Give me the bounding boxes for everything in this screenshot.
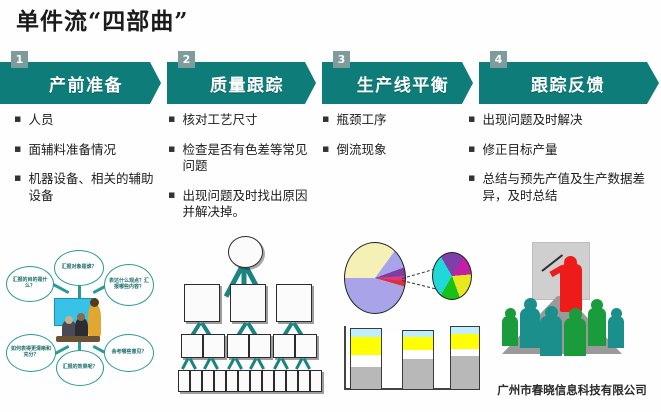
bar-segment (451, 334, 479, 350)
audience-member (608, 316, 624, 348)
bullet-marker-icon: ▪ (168, 142, 175, 175)
mindmap-bubble: 汇报对象是谁？ (54, 250, 104, 286)
banner-step-3-number: 3 (333, 51, 350, 68)
tree-node-l3 (214, 370, 226, 392)
tree-node-l2 (273, 334, 295, 358)
tree-node-l3 (190, 370, 202, 392)
audience-member (588, 308, 606, 346)
list-item: ▪ 检查是否有色差等常见问题 (168, 142, 313, 175)
mindmap-bubble-text: 会考哪些意见？ (105, 335, 153, 371)
bar-segment (451, 356, 479, 389)
bullet-column-1: ▪ 人员 ▪ 面辅料准备情况 ▪ 机器设备、相关的辅助设备 (14, 112, 154, 217)
bullet-column-4: ▪ 出现问题及时解决 ▪ 修正目标产量 ▪ 总结与预先产值及生产数据差异，及时总… (468, 112, 648, 217)
pie-chart-group (336, 234, 476, 320)
mindmap-presenter-body (88, 304, 101, 338)
list-item: ▪ 机器设备、相关的辅助设备 (14, 171, 154, 204)
bar-segment (351, 337, 381, 356)
tree-node-l3 (226, 370, 238, 392)
bullet-column-2: ▪ 核对工艺尺寸 ▪ 检查是否有色差等常见问题 ▪ 出现问题及时找出原因并解决掉… (168, 112, 313, 234)
banner-step-3[interactable]: 生产线平衡 (322, 62, 474, 104)
banner-step-1-number: 1 (11, 51, 28, 68)
audience-head (505, 308, 516, 319)
audience-head (524, 298, 537, 311)
bullet-marker-icon: ▪ (168, 112, 175, 129)
list-item-text: 检查是否有色差等常见问题 (182, 142, 313, 175)
tree-diagram (166, 236, 324, 408)
bullet-marker-icon: ▪ (168, 188, 175, 221)
list-item: ▪ 人员 (14, 112, 154, 129)
tree-node-l3 (238, 370, 250, 392)
tree-link (235, 358, 243, 370)
audience-member (520, 308, 540, 348)
bullet-marker-icon: ▪ (322, 142, 329, 159)
audience-member (502, 316, 518, 346)
bar-segment (351, 367, 381, 389)
presenter-head (564, 256, 577, 269)
mindmap-bubble: 汇报的效果呢？ (56, 350, 104, 386)
tree-node-l2 (249, 334, 271, 358)
mindmap-illustration: 汇报对象是谁？ 汇报的目的是什么？ 表达什么观点？汇报哪些内容？ 如何表得更清晰… (4, 238, 156, 406)
list-item-text: 瓶颈工序 (336, 112, 386, 129)
pie-callout-line (402, 269, 435, 279)
bar-column (450, 326, 480, 390)
audience-member (540, 316, 562, 356)
tree-node-l2 (181, 334, 203, 358)
tree-node-l1 (184, 284, 220, 322)
list-item: ▪ 总结与预先产值及生产数据差异，及时总结 (468, 171, 648, 204)
mindmap-audience-1-head (65, 316, 73, 324)
tree-node-l3 (202, 370, 214, 392)
list-item: ▪ 倒流现象 (322, 142, 462, 159)
pie-callout-line (402, 280, 435, 289)
stacked-bar-chart (336, 320, 478, 408)
page-title: 单件流“四部曲” (16, 2, 188, 36)
pie-chart-main (344, 242, 406, 314)
mindmap-table (56, 336, 100, 342)
bar-chart-y-axis (344, 326, 346, 388)
list-item-text: 面辅料准备情况 (28, 142, 116, 159)
mindmap-bubble: 如何表得更清晰和充分？ (6, 334, 56, 372)
mindmap-bubble: 表达什么观点？汇报哪些内容？ (104, 264, 154, 306)
list-item-text: 出现问题及时找出原因并解决掉。 (182, 188, 313, 221)
banner-tail-arrow (647, 62, 659, 104)
list-item-text: 出现问题及时解决 (482, 112, 582, 129)
bar-segment (403, 359, 433, 389)
mindmap-bubble-text: 如何表得更清晰和充分？ (7, 335, 55, 371)
tree-node-l3 (286, 370, 298, 392)
list-item-text: 倒流现象 (336, 142, 386, 159)
bullet-marker-icon: ▪ (468, 112, 475, 129)
tree-node-l2 (203, 334, 225, 358)
audience-head (545, 306, 558, 319)
list-item: ▪ 核对工艺尺寸 (168, 112, 313, 129)
tree-node-l3 (274, 370, 286, 392)
bullet-marker-icon: ▪ (14, 142, 21, 159)
bullet-column-3: ▪ 瓶颈工序 ▪ 倒流现象 (322, 112, 462, 171)
process-banner: 产前准备 1 质量跟踪 2 生产线平衡 3 跟踪反馈 4 (0, 62, 661, 104)
banner-step-4[interactable]: 跟踪反馈 (479, 62, 647, 104)
bullet-columns: ▪ 人员 ▪ 面辅料准备情况 ▪ 机器设备、相关的辅助设备 ▪ 核对工艺尺寸 ▪… (0, 112, 661, 237)
banner-step-4-number: 4 (490, 51, 507, 68)
mindmap-bubble: 汇报的目的是什么？ (6, 266, 54, 302)
slide-root: 单件流“四部曲” 产前准备 1 质量跟踪 2 生产线平衡 3 跟踪反馈 4 (0, 0, 661, 412)
tree-link (303, 358, 311, 370)
presenter-illustration: 广州市春晓信息科技有限公司 (484, 234, 656, 412)
list-item-text: 修正目标产量 (482, 142, 557, 159)
banner-step-1-label: 产前准备 (0, 71, 162, 96)
list-item-text: 总结与预先产值及生产数据差异，及时总结 (482, 171, 648, 204)
list-item: ▪ 修正目标产量 (468, 142, 648, 159)
bullet-marker-icon: ▪ (468, 171, 475, 204)
tree-node-l2 (227, 334, 249, 358)
mindmap-bubble-text: 汇报的效果呢？ (57, 351, 103, 385)
list-item: ▪ 出现问题及时解决 (468, 112, 648, 129)
bar-column (402, 330, 434, 390)
presenter-body (560, 264, 582, 312)
tree-link (257, 358, 265, 370)
list-item-text: 核对工艺尺寸 (182, 112, 257, 129)
bullet-marker-icon: ▪ (322, 112, 329, 129)
banner-step-4-label: 跟踪反馈 (479, 71, 647, 96)
tree-link (281, 358, 289, 370)
banner-step-2[interactable]: 质量跟踪 (167, 62, 317, 104)
tree-node-l3 (250, 370, 262, 392)
tree-node-l3 (298, 370, 310, 392)
list-item: ▪ 出现问题及时找出原因并解决掉。 (168, 188, 313, 221)
list-item-text: 人员 (28, 112, 53, 129)
bullet-marker-icon: ▪ (14, 171, 21, 204)
list-item: ▪ 瓶颈工序 (322, 112, 462, 129)
tree-link (211, 358, 219, 370)
mindmap-bubble-text: 表达什么观点？汇报哪些内容？ (105, 265, 153, 305)
footer-company: 广州市春晓信息科技有限公司 (488, 382, 656, 398)
tree-node-l3 (310, 370, 322, 392)
audience-head (611, 308, 622, 319)
banner-step-2-number: 2 (178, 51, 195, 68)
list-item: ▪ 面辅料准备情况 (14, 142, 154, 159)
tree-node-l1 (230, 284, 266, 322)
bar-column (350, 328, 382, 390)
banner-step-1[interactable]: 产前准备 (0, 62, 162, 104)
tree-node-l3 (178, 370, 190, 392)
pie-chart-detail (432, 252, 472, 300)
mindmap-bubble-text: 汇报对象是谁？ (55, 251, 103, 285)
mindmap-bubble-text: 汇报的目的是什么？ (7, 267, 53, 301)
tree-node-l3 (262, 370, 274, 392)
graphics-row: 汇报对象是谁？ 汇报的目的是什么？ 表达什么观点？汇报哪些内容？ 如何表得更清晰… (0, 234, 661, 412)
audience-member (564, 318, 586, 356)
bullet-marker-icon: ▪ (468, 142, 475, 159)
bullet-marker-icon: ▪ (14, 112, 21, 129)
audience-head (591, 299, 603, 311)
mindmap-bubble: 会考哪些意见？ (104, 334, 154, 372)
mindmap-presenter-head (90, 298, 99, 307)
bar-segment (403, 337, 433, 351)
banner-step-3-label: 生产线平衡 (322, 71, 474, 96)
mindmap-audience-2-head (77, 313, 85, 321)
tree-root-node (228, 236, 263, 268)
tree-node-l1 (276, 284, 312, 322)
list-item-text: 机器设备、相关的辅助设备 (28, 171, 154, 204)
tree-link (189, 358, 197, 370)
tree-node-l2 (295, 334, 317, 358)
audience-head (569, 308, 582, 321)
banner-step-2-label: 质量跟踪 (167, 71, 317, 96)
